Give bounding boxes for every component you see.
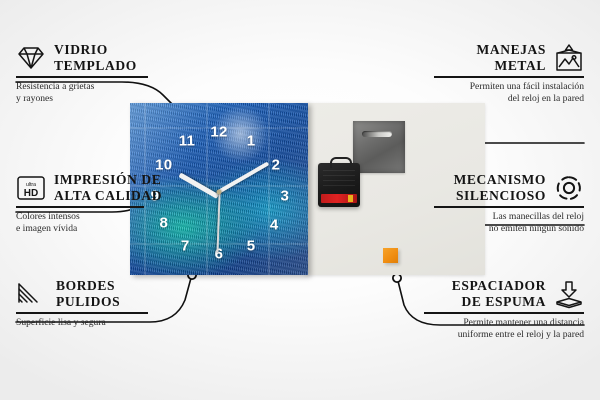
- feature-title-line2: ALTA CALIDAD: [54, 188, 162, 203]
- feature-desc-line1: Las manecillas del reloj: [493, 211, 584, 222]
- foam-spacer: [383, 248, 398, 263]
- feature-desc-line1: Colores intensos: [16, 211, 80, 222]
- feature-title: ESPACIADOR DE ESPUMA: [452, 278, 546, 309]
- feature-title-line2: METAL: [494, 58, 546, 73]
- feature-title-line2: TEMPLADO: [54, 58, 137, 73]
- clock-numeral: 6: [215, 246, 224, 263]
- feature-description: Permite mantener una distancia uniforme …: [424, 317, 584, 342]
- feature-desc-line1: Permite mantener una distancia: [463, 317, 584, 328]
- feature-mecanismo-silencioso: MECANISMO SILENCIOSO Las manecillas del …: [434, 172, 584, 236]
- feature-espaciador-espuma: ESPACIADOR DE ESPUMA Permite mantener un…: [424, 278, 584, 342]
- feature-title-line2: SILENCIOSO: [456, 188, 546, 203]
- feature-rule: [16, 76, 148, 78]
- metal-hanger-plate: [353, 121, 405, 173]
- clock-numeral: 11: [179, 132, 195, 149]
- feature-desc-line1: Resistencia a grietas: [16, 81, 94, 92]
- feature-title: VIDRIO TEMPLADO: [54, 42, 137, 73]
- feature-title-line2: DE ESPUMA: [461, 294, 546, 309]
- feature-title-line1: MANEJAS: [477, 42, 546, 57]
- feature-bordes-pulidos: BORDES PULIDOS Superficie lisa y segura: [16, 278, 166, 329]
- feature-title-line1: ESPACIADOR: [452, 278, 546, 293]
- feature-desc-line1: Superficie lisa y segura: [16, 317, 106, 328]
- feature-desc-line2: y rayones: [16, 93, 53, 104]
- feature-desc-line2: no emiten ningún sonido: [489, 223, 584, 234]
- feature-manejas-metal: MANEJAS METAL Permiten una fácil instala…: [434, 42, 584, 106]
- feature-rule: [434, 76, 584, 78]
- feature-rule: [424, 312, 584, 314]
- clock-numeral: 12: [210, 124, 227, 141]
- feature-title-line1: VIDRIO: [54, 42, 108, 57]
- picture-hanger-icon: [554, 44, 584, 72]
- feature-description: Colores intensos e imagen vívida: [16, 211, 166, 236]
- feature-title: MECANISMO SILENCIOSO: [454, 172, 546, 203]
- diamond-icon: [16, 45, 46, 71]
- feature-desc-line2: uniforme entre el reloj y la pared: [458, 329, 584, 340]
- connector-endpoint: [393, 274, 401, 282]
- feature-description: Las manecillas del reloj no emiten ningú…: [434, 211, 584, 236]
- foam-spacer-icon: [554, 280, 584, 308]
- feature-title-line1: MECANISMO: [454, 172, 546, 187]
- clock-numeral: 7: [181, 237, 190, 254]
- clock-numeral: 10: [155, 156, 172, 173]
- product-photo: 12 1 2 3 4 5 6 7 8 9 10 11: [130, 103, 485, 275]
- clock-numeral: 3: [281, 187, 290, 204]
- clock-numeral: 1: [247, 132, 256, 149]
- feature-title-line1: BORDES: [56, 278, 115, 293]
- battery: [321, 194, 357, 203]
- feature-title-line2: PULIDOS: [56, 294, 120, 309]
- feature-title-line1: IMPRESIÓN DE: [54, 172, 161, 187]
- feature-desc-line1: Permiten una fácil instalación: [470, 81, 584, 92]
- clock-hub: [217, 190, 222, 195]
- feature-vidrio-templado: VIDRIO TEMPLADO Resistencia a grietas y …: [16, 42, 156, 106]
- feature-title: BORDES PULIDOS: [56, 278, 120, 309]
- clock-numeral: 5: [247, 237, 256, 254]
- ultra-hd-large-text: HD: [24, 188, 38, 199]
- feature-rule: [16, 206, 144, 208]
- infographic-canvas: 12 1 2 3 4 5 6 7 8 9 10 11: [0, 0, 600, 400]
- feature-desc-line2: del reloj en la pared: [508, 93, 584, 104]
- ultra-hd-icon: ultra HD: [16, 175, 46, 201]
- quartz-mechanism: [318, 163, 360, 207]
- mechanism-vents: [323, 170, 355, 190]
- feature-description: Permiten una fácil instalación del reloj…: [434, 81, 584, 106]
- feature-description: Superficie lisa y segura: [16, 317, 166, 330]
- gear-icon: [554, 174, 584, 202]
- clock-numeral: 4: [270, 217, 279, 234]
- feature-rule: [434, 206, 584, 208]
- battery-terminal: [348, 195, 353, 202]
- hanger-keyhole-slot: [362, 131, 392, 137]
- polished-edge-icon: [16, 281, 48, 307]
- feature-impresion-alta-calidad: ultra HD IMPRESIÓN DE ALTA CALIDAD Color…: [16, 172, 166, 236]
- feature-title: IMPRESIÓN DE ALTA CALIDAD: [54, 172, 162, 203]
- mechanism-handle: [330, 157, 352, 168]
- feature-title: MANEJAS METAL: [477, 42, 546, 73]
- feature-rule: [16, 312, 148, 314]
- feature-desc-line2: e imagen vívida: [16, 223, 77, 234]
- clock-numeral: 2: [272, 156, 281, 173]
- feature-description: Resistencia a grietas y rayones: [16, 81, 156, 106]
